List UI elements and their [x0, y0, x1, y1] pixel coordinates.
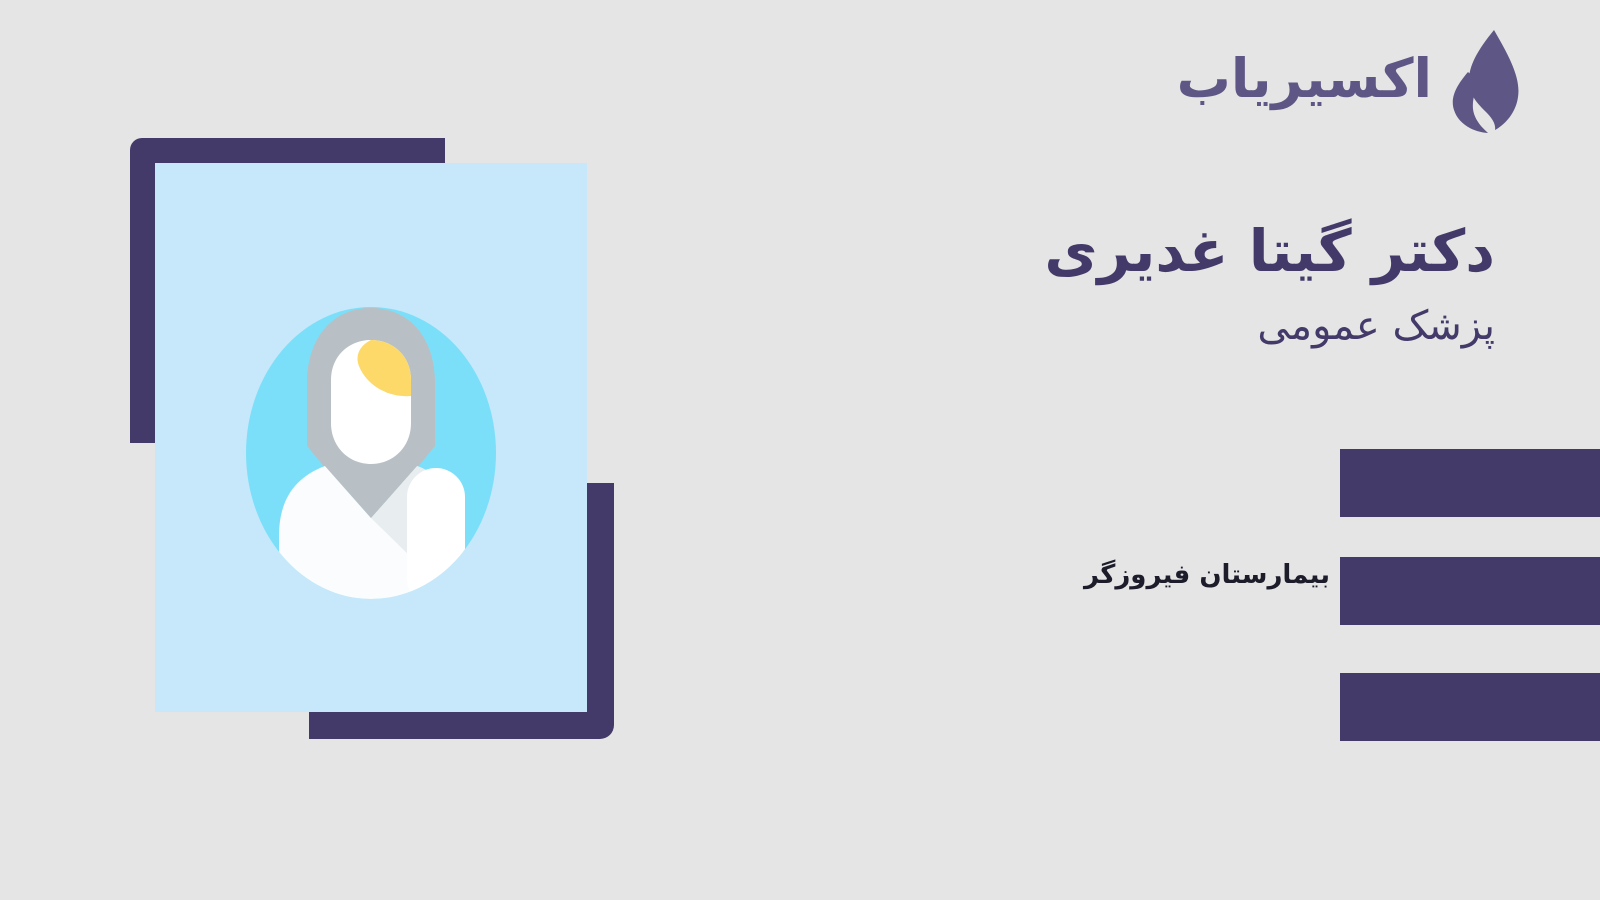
- brand-logo[interactable]: اکسیریاب: [1177, 28, 1522, 136]
- decor-stripes: [1340, 449, 1600, 741]
- doctor-illustration: [130, 138, 614, 739]
- doctor-photo-frame: [155, 163, 587, 712]
- hospital-name: بیمارستان فیروزگر: [1084, 559, 1330, 593]
- doctor-specialty: پزشک عمومی: [855, 300, 1495, 352]
- decor-stripe: [1340, 557, 1600, 625]
- hospital-block: بیمارستان فیروزگر: [1084, 559, 1330, 593]
- avatar: [221, 268, 521, 608]
- doctor-name: دکتر گیتا غدیری: [855, 215, 1495, 288]
- decor-stripe: [1340, 449, 1600, 517]
- doctor-info: دکتر گیتا غدیری پزشک عمومی: [855, 215, 1495, 352]
- profile-card-canvas: اکسیریاب: [0, 0, 1600, 900]
- decor-stripe: [1340, 673, 1600, 741]
- flame-droplet-icon: [1446, 28, 1522, 136]
- brand-name: اکسیریاب: [1177, 52, 1432, 112]
